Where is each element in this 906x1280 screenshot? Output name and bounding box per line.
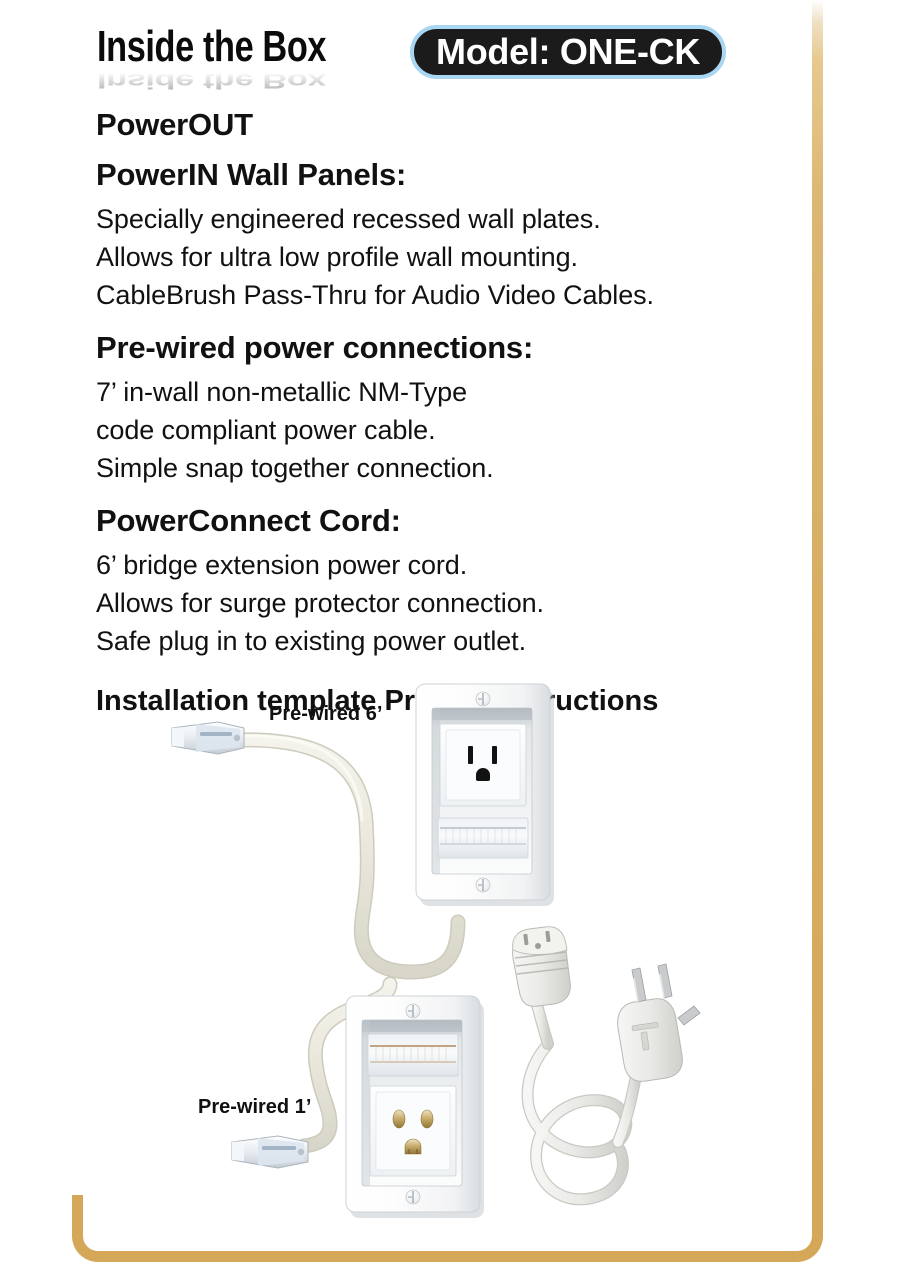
section-line: code compliant power cable.	[96, 411, 816, 449]
snap-connector-icon	[172, 722, 244, 754]
male-three-prong-plug-icon	[618, 964, 700, 1081]
mounting-screw-icon	[476, 878, 490, 892]
section-line: Allows for surge protector connection.	[96, 584, 816, 622]
section-line: Simple snap together connection.	[96, 449, 816, 487]
model-number-label: Model: ONE-CK	[436, 34, 700, 70]
section-heading-pre-wired-power-connections: Pre-wired power connections:	[96, 323, 816, 373]
header: Inside the Box Inside the Box Model: ONE…	[97, 24, 803, 96]
page-title-reflection: Inside the Box	[97, 70, 326, 92]
page-title-block: Inside the Box Inside the Box	[97, 24, 397, 96]
product-diagram: Pre-wired 6’	[72, 672, 823, 1232]
cable-label-top: Pre-wired 6’	[269, 703, 382, 725]
power-out-recessed-wall-plate	[416, 684, 554, 906]
mounting-screw-icon	[476, 692, 490, 706]
section-line: Safe plug in to existing power outlet.	[96, 622, 816, 660]
section-line: Specially engineered recessed wall plate…	[96, 200, 816, 238]
cable-brush-pass-thru-icon	[438, 818, 528, 858]
feature-list: PowerOUT PowerIN Wall Panels: Specially …	[96, 100, 816, 718]
section-line: Allows for ultra low profile wall mounti…	[96, 238, 816, 276]
power-connect-cord	[513, 927, 700, 1200]
mounting-screw-icon	[406, 1190, 420, 1204]
section-line: 6’ bridge extension power cord.	[96, 546, 816, 584]
cable-label-bottom: Pre-wired 1’	[198, 1096, 311, 1118]
snap-connector-icon	[232, 1136, 308, 1168]
section-heading-power-connect-cord: PowerConnect Cord:	[96, 496, 816, 546]
mounting-screw-icon	[406, 1004, 420, 1018]
page-title: Inside the Box	[97, 24, 331, 70]
section-heading-power-in-wall-panels: PowerIN Wall Panels:	[96, 150, 816, 200]
cable-brush-pass-thru-icon	[368, 1034, 458, 1076]
power-out-diagram: Pre-wired 6’	[172, 684, 554, 972]
power-in-recessed-wall-plate	[346, 996, 484, 1218]
section-line: CableBrush Pass-Thru for Audio Video Cab…	[96, 276, 816, 314]
section-line: 7’ in-wall non-metallic NM-Type	[96, 373, 816, 411]
section-heading-power-out: PowerOUT	[96, 100, 816, 150]
power-in-diagram: Pre-wired 1’	[198, 984, 484, 1218]
status-badge: Model: ONE-CK	[410, 25, 726, 79]
female-socket-end-icon	[513, 927, 571, 1007]
